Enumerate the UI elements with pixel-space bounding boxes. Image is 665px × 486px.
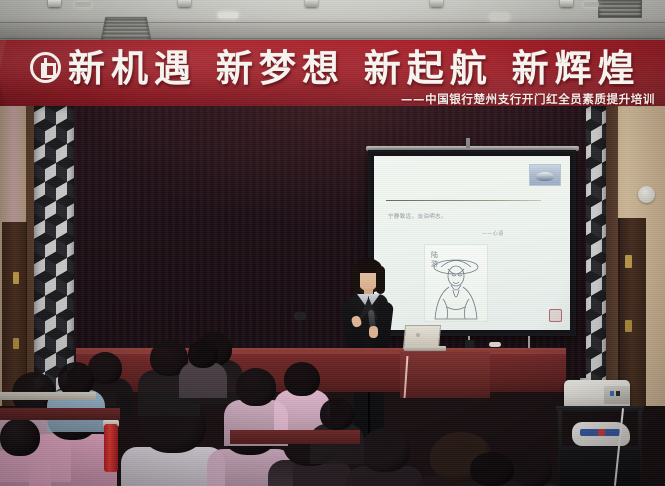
- banner-headline: 新机遇 新梦想 新起航 新辉煌: [68, 48, 648, 89]
- bench-row-mid: [230, 430, 360, 444]
- banner-clip-2: [178, 0, 191, 7]
- red-thermos: [104, 424, 118, 472]
- banner-clip-5: [560, 0, 573, 7]
- banner-clip-3: [305, 0, 318, 7]
- podium-desk: [400, 352, 490, 398]
- desk-left: [0, 392, 96, 400]
- downlight-2-icon: [218, 12, 238, 18]
- right-wood-trim: [606, 106, 618, 406]
- svg-text:游: 游: [431, 259, 438, 268]
- cart-lower-compartment: [560, 450, 640, 486]
- desk-remote-icon: [489, 342, 501, 347]
- banner-clip-1: [48, 0, 61, 7]
- svg-text:陆: 陆: [431, 250, 438, 259]
- presenter-hair-right: [376, 266, 385, 294]
- plastic-bag-print: [580, 429, 620, 436]
- presenter-hand-right: [369, 326, 378, 338]
- left-lattice-panel: [34, 106, 74, 402]
- audience-head: [236, 368, 276, 406]
- floor-mic-head-icon: [294, 312, 306, 320]
- downlight-1-icon: [75, 2, 91, 7]
- right-door-handle-icon: [625, 255, 632, 268]
- right-door-handle-lower-icon: [625, 320, 632, 332]
- audience-head: [320, 398, 354, 430]
- left-door-handle-lower-icon: [13, 338, 19, 349]
- presentation-laptop-base: [404, 346, 446, 351]
- video-projector: [564, 380, 630, 408]
- cart-top-shelf: [556, 406, 644, 412]
- slide-seal-icon: [549, 309, 562, 322]
- downlight-3-icon: [490, 14, 509, 20]
- audience-head: [0, 418, 40, 456]
- ceiling-vent-left-icon: [100, 17, 152, 42]
- audience-head: [470, 452, 514, 486]
- slide-horizontal-rule: [386, 200, 541, 201]
- audience-head: [360, 428, 410, 472]
- banner-subtitle: ——中国银行楚州支行开门红全员素质提升培训: [401, 91, 655, 107]
- desk-device-icon: [465, 340, 474, 348]
- projector-vga-port-icon: [610, 391, 614, 396]
- conference-photo-scene: 宁静致远，淡泊明志。 ——心语 陆: [0, 0, 665, 486]
- screen-mount: [466, 138, 470, 148]
- audience-head: [284, 362, 320, 396]
- ceiling-vent-right-icon: [598, 0, 642, 18]
- wall-clock-icon: [638, 186, 655, 203]
- downlight-4-icon: [584, 2, 599, 7]
- slide-quote-text: 宁静致远，淡泊明志。: [388, 213, 447, 221]
- audience-head: [188, 340, 218, 368]
- projection-screen-surface: 宁静致远，淡泊明志。 ——心语 陆: [374, 156, 570, 330]
- slide-portrait-image: 陆 游: [424, 244, 488, 322]
- banner-clip-4: [430, 0, 443, 7]
- slide-attribution-text: ——心语: [482, 230, 504, 237]
- projector-hdmi-port-icon: [616, 391, 620, 396]
- left-door-handle-icon: [13, 272, 19, 284]
- laptop-logo-icon: [416, 333, 420, 337]
- projector-cart: [556, 386, 644, 486]
- bench-row-left: [0, 408, 120, 420]
- presenter-hair-left: [352, 266, 360, 292]
- audience-head: [58, 362, 94, 396]
- slide-corner-image-icon: [529, 164, 561, 186]
- bank-of-china-logo-icon: [30, 52, 61, 83]
- right-door: [618, 218, 646, 406]
